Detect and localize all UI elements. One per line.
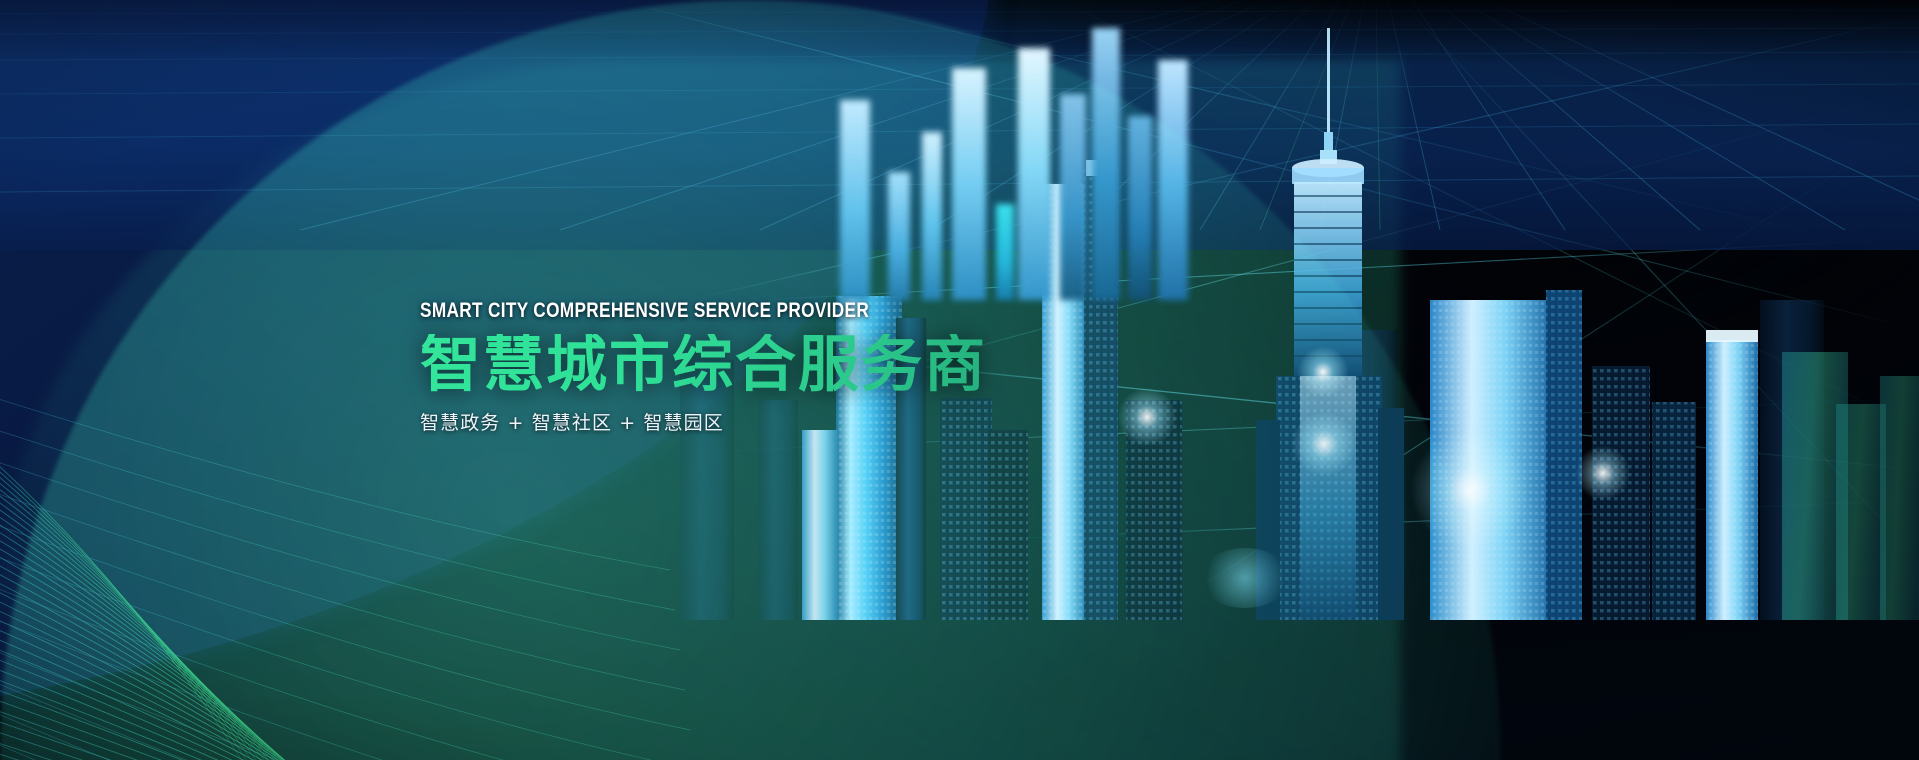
ground-plane (0, 0, 1919, 250)
bloom-spot (1200, 548, 1290, 608)
bloom-spot (1297, 346, 1349, 398)
foreground-light-bars (840, 0, 1300, 300)
light-bar (952, 68, 986, 300)
smart-city-hero-banner: SMART CITY COMPREHENSIVE SERVICE PROVIDE… (0, 0, 1919, 760)
hero-tagline: 智慧政务 + 智慧社区 + 智慧园区 (420, 412, 1180, 435)
light-bar (840, 100, 870, 300)
hero-headline-chinese: 智慧城市综合服务商 (420, 334, 1180, 396)
light-bar (1018, 48, 1050, 300)
bloom-spot (1576, 446, 1630, 500)
bloom-spot (1410, 430, 1530, 550)
bloom-spot (1292, 412, 1356, 476)
light-bar (1060, 94, 1086, 300)
light-bar (922, 132, 942, 300)
wireframe-mesh-graphic (0, 170, 1140, 760)
light-bar (1158, 60, 1188, 300)
light-bar (888, 172, 910, 300)
light-bar (996, 204, 1014, 300)
hero-eyebrow-english: SMART CITY COMPREHENSIVE SERVICE PROVIDE… (420, 300, 1043, 321)
perspective-grid (0, 0, 1919, 230)
light-bar (1128, 116, 1152, 300)
light-bar (1092, 28, 1120, 300)
hero-copy-block: SMART CITY COMPREHENSIVE SERVICE PROVIDE… (420, 300, 1180, 435)
